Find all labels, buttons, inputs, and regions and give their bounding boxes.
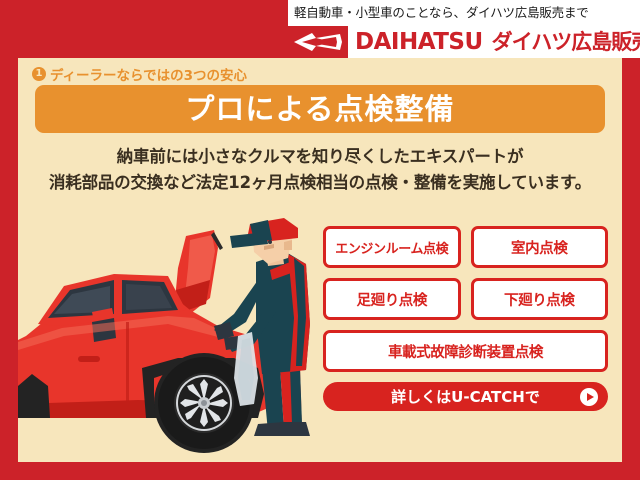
inspection-row-1: エンジンルーム点検 室内点検 bbox=[323, 226, 608, 268]
section-label-text: ディーラーならではの3つの安心 bbox=[50, 64, 247, 84]
inspection-row-2: 足廻り点検 下廻り点検 bbox=[323, 278, 608, 320]
daihatsu-wordmark: DAIHATSU bbox=[348, 31, 483, 54]
advertisement-page: 軽自動車・小型車のことなら、ダイハツ広島販売まで DAIHATSU ダイハツ広島… bbox=[0, 0, 640, 480]
cta-label: 詳しくはU-CATCHで bbox=[391, 386, 540, 407]
chip-engine-room-inspection[interactable]: エンジンルーム点検 bbox=[323, 226, 461, 268]
header-tagline: 軽自動車・小型車のことなら、ダイハツ広島販売まで bbox=[288, 0, 640, 26]
chip-obd-inspection[interactable]: 車載式故障診断装置点検 bbox=[323, 330, 608, 372]
dealer-name: ダイハツ広島販売 bbox=[483, 32, 640, 53]
section-number-badge: 1 bbox=[32, 67, 46, 81]
section-label: 1 ディーラーならではの3つの安心 bbox=[32, 64, 247, 84]
page-title: プロによる点検整備 bbox=[185, 95, 454, 124]
inspection-items-list: エンジンルーム点検 室内点検 足廻り点検 下廻り点検 車載式故障診断装置点検 詳… bbox=[323, 226, 608, 411]
title-banner: プロによる点検整備 bbox=[35, 85, 605, 133]
mechanic-inspecting-red-car-illustration bbox=[18, 218, 318, 462]
daihatsu-d-wing-logo-icon bbox=[288, 26, 348, 58]
chip-underbody-inspection[interactable]: 下廻り点検 bbox=[471, 278, 609, 320]
lead-paragraph: 納車前には小さなクルマを知り尽くしたエキスパートが 消耗部品の交換など法定12ヶ… bbox=[18, 144, 622, 195]
chip-interior-inspection[interactable]: 室内点検 bbox=[471, 226, 609, 268]
header-band: 軽自動車・小型車のことなら、ダイハツ広島販売まで DAIHATSU ダイハツ広島… bbox=[0, 0, 640, 58]
play-arrow-icon bbox=[580, 388, 598, 406]
ucatch-cta-button[interactable]: 詳しくはU-CATCHで bbox=[323, 382, 608, 411]
lead-line-1: 納車前には小さなクルマを知り尽くしたエキスパートが bbox=[18, 144, 622, 170]
logo-row: DAIHATSU ダイハツ広島販売 bbox=[288, 26, 640, 58]
lead-line-2: 消耗部品の交換など法定12ヶ月点検相当の点検・整備を実施しています。 bbox=[18, 170, 622, 196]
content-panel: 1 ディーラーならではの3つの安心 プロによる点検整備 納車前には小さなクルマを… bbox=[18, 58, 622, 462]
inspection-row-3: 車載式故障診断装置点検 bbox=[323, 330, 608, 372]
brand-box: 軽自動車・小型車のことなら、ダイハツ広島販売まで DAIHATSU ダイハツ広島… bbox=[288, 0, 640, 58]
chip-suspension-inspection[interactable]: 足廻り点検 bbox=[323, 278, 461, 320]
